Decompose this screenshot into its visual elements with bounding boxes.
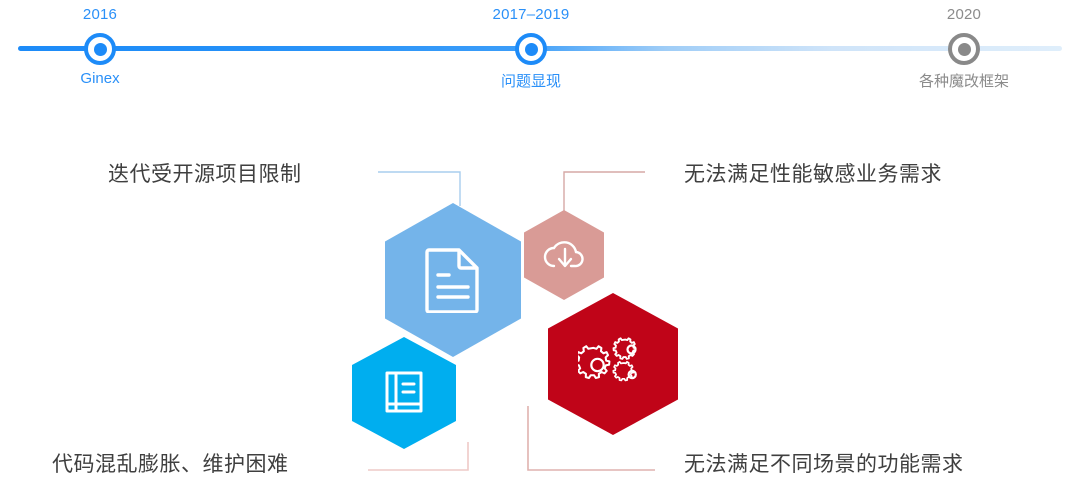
gears-icon <box>578 331 648 397</box>
timeline-label-0: Ginex <box>80 70 119 87</box>
document-icon <box>424 247 482 313</box>
caption-top-left: 迭代受开源项目限制 <box>108 158 302 188</box>
caption-top-right: 无法满足性能敏感业务需求 <box>684 158 942 188</box>
timeline-label-1: 问题显现 <box>501 70 561 91</box>
caption-bottom-left: 代码混乱膨胀、维护困难 <box>52 448 289 478</box>
timeline-year-2: 2020 <box>947 6 981 23</box>
timeline-node-1[interactable] <box>515 33 547 65</box>
caption-bottom-right: 无法满足不同场景的功能需求 <box>684 448 964 478</box>
timeline-node-0[interactable] <box>84 33 116 65</box>
timeline-year-0: 2016 <box>83 6 117 23</box>
timeline-node-2[interactable] <box>948 33 980 65</box>
timeline-node-dot <box>525 43 538 56</box>
timeline: 2016 Ginex 2017–2019 问题显现 2020 各种魔改框架 <box>0 0 1080 100</box>
timeline-node-dot <box>958 43 971 56</box>
timeline-label-2: 各种魔改框架 <box>919 70 1009 91</box>
book-icon <box>383 370 425 416</box>
hexagon-diagram: 迭代受开源项目限制 无法满足性能敏感业务需求 代码混乱膨胀、维护困难 无法满足不… <box>0 100 1080 494</box>
timeline-node-dot <box>94 43 107 56</box>
cloud-download-icon <box>541 238 587 272</box>
timeline-year-1: 2017–2019 <box>493 6 570 23</box>
